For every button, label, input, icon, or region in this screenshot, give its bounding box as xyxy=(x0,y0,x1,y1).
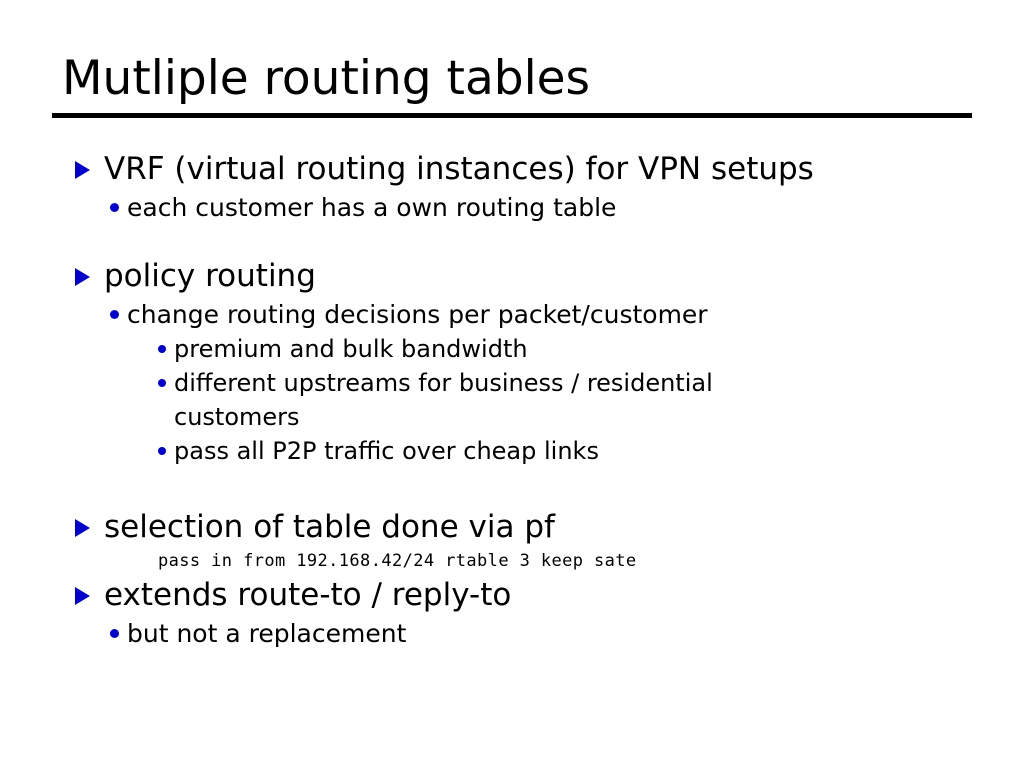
bullet-text: selection of table done via pf xyxy=(0,506,1024,548)
bullet-item-different-upstreams: different upstreams for business / resid… xyxy=(0,366,1024,434)
bullet-item-not-a-replacement: but not a replacement xyxy=(0,616,1024,651)
page-title: Mutliple routing tables xyxy=(62,50,590,108)
bullet-text: pass all P2P traffic over cheap links xyxy=(0,434,1024,468)
bullet-text: VRF (virtual routing instances) for VPN … xyxy=(0,148,1024,190)
bullet-text: each customer has a own routing table xyxy=(0,190,1024,225)
bullet-item-p2p-cheap-links: pass all P2P traffic over cheap links xyxy=(0,434,1024,468)
dot-icon xyxy=(158,447,166,455)
bullet-item-change-routing-decisions: change routing decisions per packet/cust… xyxy=(0,297,1024,332)
bullet-item-vrf: VRF (virtual routing instances) for VPN … xyxy=(0,148,1024,190)
section-spacer xyxy=(0,225,1024,255)
bullet-item-selection-of-table: selection of table done via pf xyxy=(0,506,1024,548)
dot-icon xyxy=(110,629,119,638)
bullet-item-policy-routing: policy routing xyxy=(0,255,1024,297)
dot-icon xyxy=(110,310,119,319)
code-text: pass in from 192.168.42/24 rtable 3 keep… xyxy=(0,548,1024,574)
bullet-text: premium and bulk bandwidth xyxy=(0,332,1024,366)
bullet-item-extends-route-to: extends route-to / reply-to xyxy=(0,574,1024,616)
triangle-right-icon xyxy=(75,587,90,605)
bullet-item-premium-bulk-bandwidth: premium and bulk bandwidth xyxy=(0,332,1024,366)
triangle-right-icon xyxy=(75,519,90,537)
bullet-text: but not a replacement xyxy=(0,616,1024,651)
slide: Mutliple routing tables VRF (virtual rou… xyxy=(0,0,1024,768)
bullet-text: different upstreams for business / resid… xyxy=(0,366,1024,434)
bullet-item-each-customer: each customer has a own routing table xyxy=(0,190,1024,225)
bullet-text: extends route-to / reply-to xyxy=(0,574,1024,616)
section-spacer xyxy=(0,468,1024,506)
slide-body: VRF (virtual routing instances) for VPN … xyxy=(0,148,1024,651)
bullet-text: change routing decisions per packet/cust… xyxy=(0,297,1024,332)
triangle-right-icon xyxy=(75,161,90,179)
code-sample-pf-rule: pass in from 192.168.42/24 rtable 3 keep… xyxy=(0,548,1024,574)
dot-icon xyxy=(158,345,166,353)
dot-icon xyxy=(158,379,166,387)
bullet-text: policy routing xyxy=(0,255,1024,297)
triangle-right-icon xyxy=(75,268,90,286)
dot-icon xyxy=(110,203,119,212)
title-underline-rule xyxy=(52,113,972,118)
